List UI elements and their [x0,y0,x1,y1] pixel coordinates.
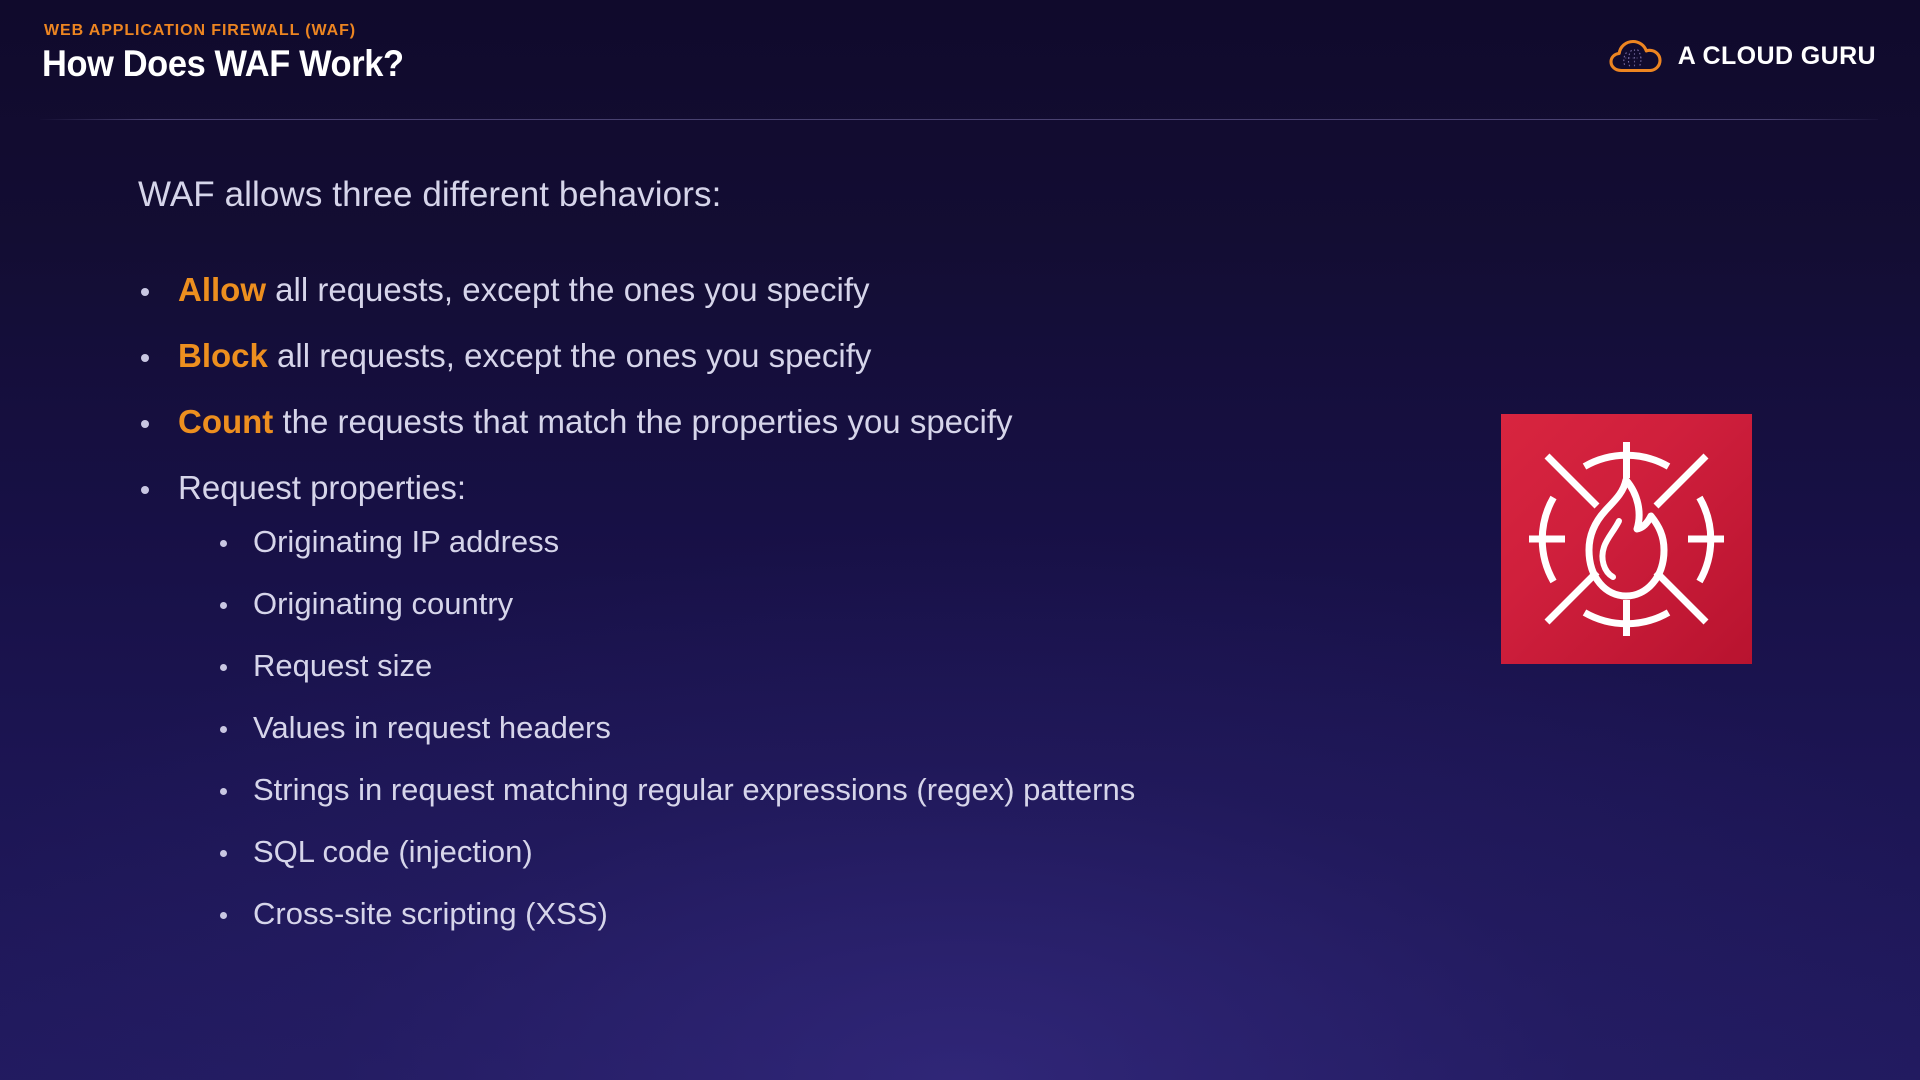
list-item-text: Originating country [253,586,513,621]
list-item-text: the requests that match the properties y… [273,403,1012,440]
list-item-request-properties: Request properties: Originating IP addre… [138,471,1438,929]
list-item: Strings in request matching regular expr… [178,774,1438,805]
bullet-dot-icon [141,288,149,296]
list-item-text: Request properties: [178,469,466,506]
bullet-dot-icon [220,540,227,547]
list-item-text: Values in request headers [253,710,611,745]
bullet-dot-icon [141,420,149,428]
list-item: Allow all requests, except the ones you … [138,273,1438,306]
list-item-text: Cross-site scripting (XSS) [253,896,608,931]
list-item-text: Originating IP address [253,524,559,559]
intro-line: WAF allows three different behaviors: [138,175,1438,215]
keyword-count: Count [178,403,273,440]
brand-logo: A CLOUD GURU [1608,36,1876,76]
list-item-text: all requests, except the ones you specif… [268,337,872,374]
bullet-dot-icon [141,486,149,494]
list-item: Block all requests, except the ones you … [138,339,1438,372]
list-item-text: Strings in request matching regular expr… [253,772,1135,807]
bullet-dot-icon [220,788,227,795]
list-item-text: Request size [253,648,432,683]
brand-name: A CLOUD GURU [1678,42,1876,71]
slide-header: WEB APPLICATION FIREWALL (WAF) How Does … [0,0,1920,120]
slide-root: WEB APPLICATION FIREWALL (WAF) How Does … [0,0,1920,1080]
list-item-text: SQL code (injection) [253,834,533,869]
list-item: Cross-site scripting (XSS) [178,898,1438,929]
list-item: Values in request headers [178,712,1438,743]
slide-content: WAF allows three different behaviors: Al… [138,175,1438,962]
bullet-dot-icon [220,850,227,857]
bullet-dot-icon [220,726,227,733]
bullet-dot-icon [220,664,227,671]
bullet-dot-icon [220,912,227,919]
header-divider [40,119,1878,120]
keyword-allow: Allow [178,271,266,308]
behavior-list: Allow all requests, except the ones you … [138,273,1438,929]
list-item-text: all requests, except the ones you specif… [266,271,870,308]
bullet-dot-icon [220,602,227,609]
request-properties-list: Originating IP address Originating count… [178,526,1438,929]
list-item: Count the requests that match the proper… [138,405,1438,438]
list-item: Originating IP address [178,526,1438,557]
bullet-dot-icon [141,354,149,362]
list-item: SQL code (injection) [178,836,1438,867]
firewall-flame-target-icon [1501,414,1752,664]
cloud-icon [1608,36,1664,76]
list-item: Originating country [178,588,1438,619]
page-title: How Does WAF Work? [42,43,404,85]
list-item: Request size [178,650,1438,681]
keyword-block: Block [178,337,268,374]
slide-eyebrow: WEB APPLICATION FIREWALL (WAF) [44,22,356,40]
